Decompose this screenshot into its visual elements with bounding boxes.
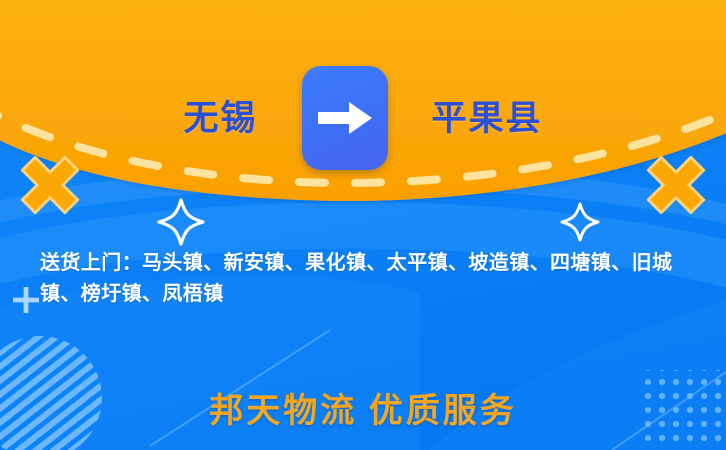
destination-city: 平果县: [432, 101, 543, 136]
logistics-route-banner: 无锡 平果县 送货上门：马头镇、新安镇、果化镇、太平镇、坡造镇、四塘镇、旧城镇、…: [0, 0, 726, 450]
delivery-towns-text: 送货上门：马头镇、新安镇、果化镇、太平镇、坡造镇、四塘镇、旧城镇、榜圩镇、凤梧镇: [40, 248, 700, 310]
arrow-right-icon: [316, 98, 374, 138]
route-arrow-button[interactable]: [302, 66, 388, 170]
origin-city: 无锡: [183, 101, 257, 136]
route-header: 无锡 平果县: [0, 78, 726, 158]
company-slogan: 邦天物流 优质服务: [0, 392, 726, 431]
